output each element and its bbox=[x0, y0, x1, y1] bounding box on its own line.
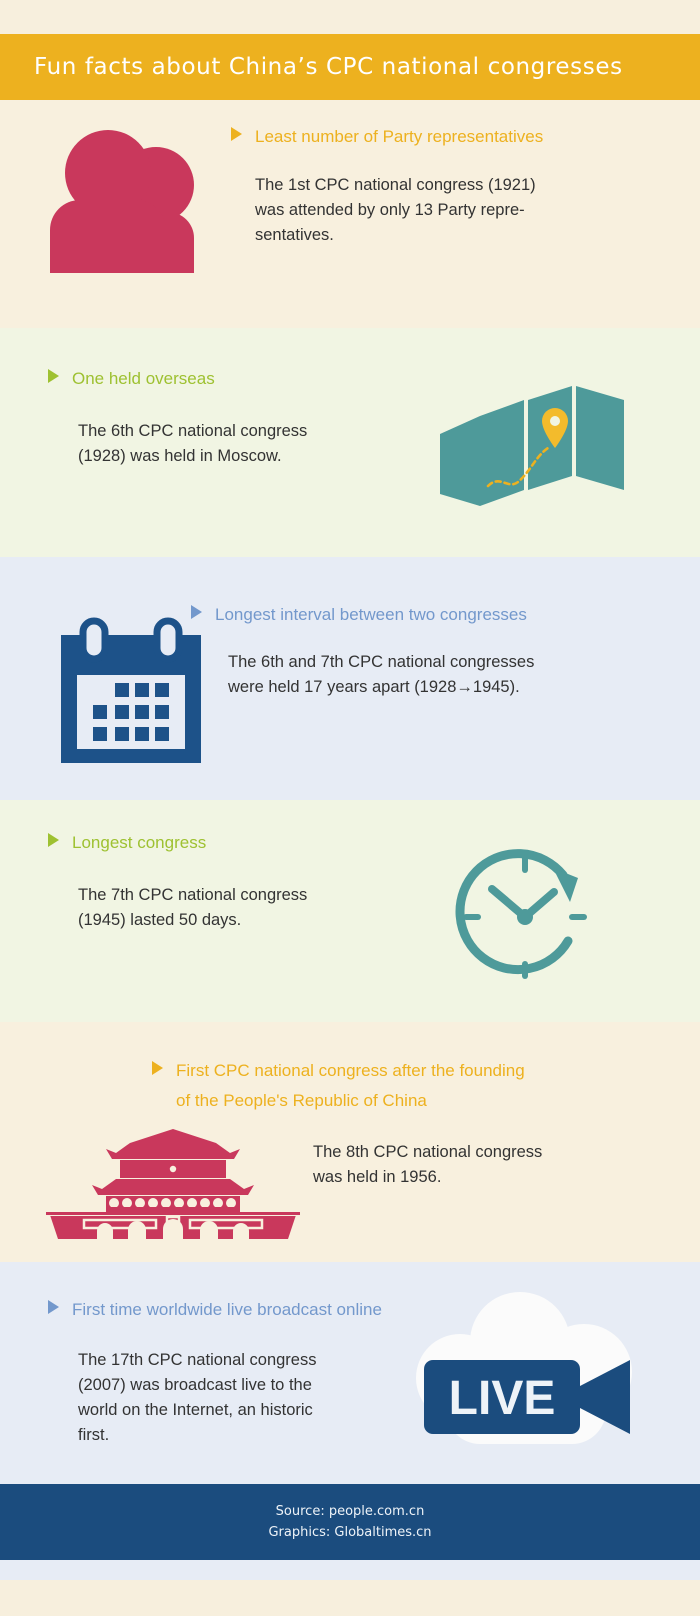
section-body: The 6th CPC national congress (1928) was… bbox=[78, 419, 408, 469]
section-least-representatives: Least number of Party representatives Th… bbox=[0, 100, 700, 328]
live-label: LIVE bbox=[449, 1372, 556, 1425]
page-title-banner: Fun facts about China’s CPC national con… bbox=[0, 34, 700, 100]
top-spacer bbox=[0, 0, 700, 34]
triangle-bullet-icon bbox=[191, 605, 202, 619]
section-one-held-overseas: One held overseas The 6th CPC national c… bbox=[0, 328, 700, 557]
section-body: The 17th CPC national congress (2007) wa… bbox=[78, 1348, 398, 1448]
section-body: The 6th and 7th CPC national congresses … bbox=[228, 650, 658, 700]
section-first-after-founding: First CPC national congress after the fo… bbox=[0, 1022, 700, 1262]
section-heading: First CPC national congress after the fo… bbox=[176, 1056, 525, 1116]
triangle-bullet-icon bbox=[48, 369, 59, 383]
section-body: The 1st CPC national congress (1921) was… bbox=[255, 173, 655, 248]
footer-credits: Source: people.com.cn Graphics: Globalti… bbox=[0, 1484, 700, 1560]
calendar-icon bbox=[57, 615, 205, 767]
section-heading-row: Least number of Party representatives bbox=[231, 122, 543, 152]
folded-map-pin-icon bbox=[438, 378, 628, 518]
page-title: Fun facts about China’s CPC national con… bbox=[34, 54, 623, 80]
infographic-page: Fun facts about China’s CPC national con… bbox=[0, 0, 700, 1616]
section-longest-congress: Longest congress The 7th CPC national co… bbox=[0, 800, 700, 1022]
section-heading-row: Longest congress bbox=[48, 828, 206, 858]
section-heading: Least number of Party representatives bbox=[255, 122, 543, 152]
section-heading-row: One held overseas bbox=[48, 364, 215, 394]
section-heading: Longest interval between two congresses bbox=[215, 600, 527, 630]
people-icon bbox=[48, 130, 213, 285]
bottom-spacer bbox=[0, 1560, 700, 1580]
triangle-bullet-icon bbox=[48, 1300, 59, 1314]
section-heading: Longest congress bbox=[72, 828, 206, 858]
section-heading-row: First CPC national congress after the fo… bbox=[152, 1056, 525, 1116]
section-heading-row: Longest interval between two congresses bbox=[191, 600, 527, 630]
clock-arrow-icon bbox=[450, 842, 600, 992]
section-first-live-broadcast: LIVE First time worldwide live broadcast… bbox=[0, 1262, 700, 1484]
footer-source: Source: people.com.cn bbox=[276, 1502, 425, 1521]
section-longest-interval: Longest interval between two congresses … bbox=[0, 557, 700, 800]
section-heading-row: First time worldwide live broadcast onli… bbox=[48, 1295, 382, 1325]
live-cloud-camera-icon: LIVE bbox=[398, 1286, 658, 1466]
section-heading: One held overseas bbox=[72, 364, 215, 394]
footer-graphics: Graphics: Globaltimes.cn bbox=[268, 1523, 431, 1542]
section-heading: First time worldwide live broadcast onli… bbox=[72, 1295, 382, 1325]
triangle-bullet-icon bbox=[231, 127, 242, 141]
section-body: The 8th CPC national congress was held i… bbox=[313, 1140, 643, 1190]
tiananmen-gate-icon bbox=[44, 1127, 302, 1239]
triangle-bullet-icon bbox=[152, 1061, 163, 1075]
section-body: The 7th CPC national congress (1945) las… bbox=[78, 883, 408, 933]
triangle-bullet-icon bbox=[48, 833, 59, 847]
